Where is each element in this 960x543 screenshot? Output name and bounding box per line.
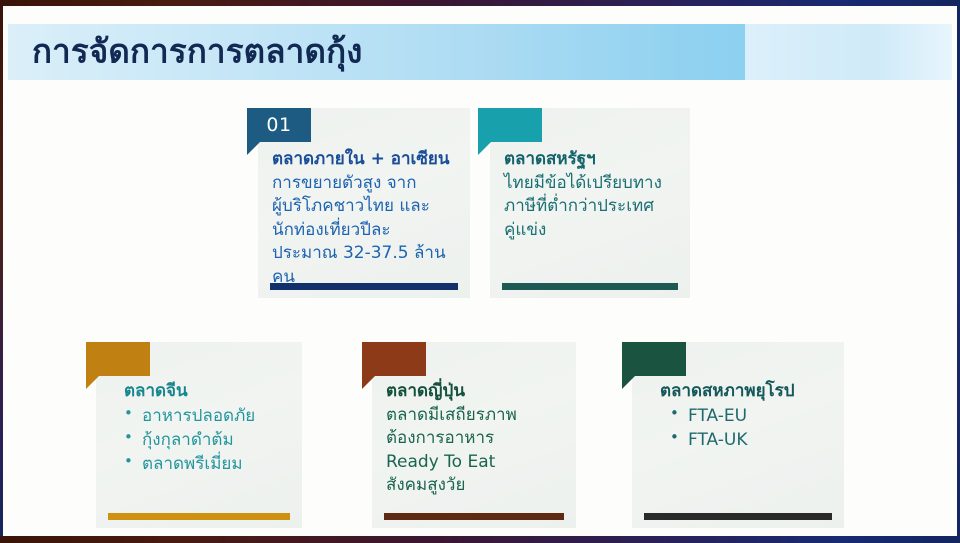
card-heading: ตลาดสหรัฐฯ <box>504 148 676 171</box>
card-body-02: ตลาดสหรัฐฯ ไทยมีข้อได้เปรียบทาง ภาษีที่ต… <box>490 148 690 242</box>
card-underline-02 <box>502 283 678 290</box>
card-line: ผู้บริโภคชาวไทย และ <box>272 195 456 218</box>
list-item: FTA-EU <box>646 404 830 428</box>
card-line: Ready To Eat <box>386 451 562 474</box>
list-item: อาหารปลอดภัย <box>110 404 288 428</box>
window-left-edge <box>0 0 3 543</box>
card-line: ตลาดมีเสถียรภาพ <box>386 404 562 427</box>
card-body-01: ตลาดภายใน + อาเซียน การขยายตัวสูง จาก ผู… <box>258 148 470 289</box>
page-title: การจัดการการตลาดกุ้ง <box>32 24 363 77</box>
card-number-tab-03: 03 <box>86 342 150 376</box>
window-bottom-chrome <box>0 536 960 543</box>
market-card-04[interactable]: 04 ตลาดญี่ปุ่น ตลาดมีเสถียรภาพ ต้องการอา… <box>372 342 576 528</box>
card-number-tab-04: 04 <box>362 342 426 376</box>
card-line: ประมาณ 32-37.5 ล้าน <box>272 242 456 265</box>
card-body-04: ตลาดญี่ปุ่น ตลาดมีเสถียรภาพ ต้องการอาหาร… <box>372 380 576 498</box>
card-line: ไทยมีข้อได้เปรียบทาง <box>504 172 676 195</box>
card-heading: ตลาดสหภาพยุโรป <box>646 380 830 403</box>
card-body-05: ตลาดสหภาพยุโรป FTA-EU FTA-UK <box>632 380 844 452</box>
card-underline-01 <box>270 283 458 290</box>
card-number-label: 01 <box>266 114 291 136</box>
card-number-label: 03 <box>105 348 130 370</box>
card-line: การขยายตัวสูง จาก <box>272 172 456 195</box>
card-bullet-list-03: อาหารปลอดภัย กุ้งกุลาดำต้ม ตลาดพรีเมี่ยม <box>110 404 288 476</box>
card-line: นักท่องเที่ยวปีละ <box>272 219 456 242</box>
list-item: FTA-UK <box>646 428 830 452</box>
card-number-label: 05 <box>641 348 666 370</box>
card-heading: ตลาดญี่ปุ่น <box>386 380 562 403</box>
card-underline-05 <box>644 513 832 520</box>
market-card-05[interactable]: 05 ตลาดสหภาพยุโรป FTA-EU FTA-UK <box>632 342 844 528</box>
slide-frame: การจัดการการตลาดกุ้ง 01 ตลาดภายใน + อาเซ… <box>0 0 960 543</box>
list-item: ตลาดพรีเมี่ยม <box>110 452 288 476</box>
title-banner: การจัดการการตลาดกุ้ง <box>8 24 952 80</box>
card-line: สังคมสูงวัย <box>386 474 562 497</box>
card-line: ภาษีที่ต่ำกว่าประเทศ <box>504 195 676 218</box>
card-number-tab-02: 02 <box>478 108 542 142</box>
market-card-01[interactable]: 01 ตลาดภายใน + อาเซียน การขยายตัวสูง จาก… <box>258 108 470 298</box>
card-body-03: ตลาดจีน อาหารปลอดภัย กุ้งกุลาดำต้ม ตลาดพ… <box>96 380 302 476</box>
card-underline-03 <box>108 513 290 520</box>
card-line: คู่แข่ง <box>504 219 676 242</box>
market-card-03[interactable]: 03 ตลาดจีน อาหารปลอดภัย กุ้งกุลาดำต้ม ตล… <box>96 342 302 528</box>
card-heading: ตลาดภายใน + อาเซียน <box>272 148 456 171</box>
card-number-label: 04 <box>381 348 406 370</box>
list-item: กุ้งกุลาดำต้ม <box>110 428 288 452</box>
window-top-chrome <box>0 0 960 6</box>
card-line: ต้องการอาหาร <box>386 427 562 450</box>
card-heading: ตลาดจีน <box>110 380 288 403</box>
card-bullet-list-05: FTA-EU FTA-UK <box>646 404 830 452</box>
card-number-label: 02 <box>497 114 522 136</box>
market-card-02[interactable]: 02 ตลาดสหรัฐฯ ไทยมีข้อได้เปรียบทาง ภาษีท… <box>490 108 690 298</box>
card-number-tab-01: 01 <box>247 108 311 142</box>
card-underline-04 <box>384 513 564 520</box>
card-number-tab-05: 05 <box>622 342 686 376</box>
